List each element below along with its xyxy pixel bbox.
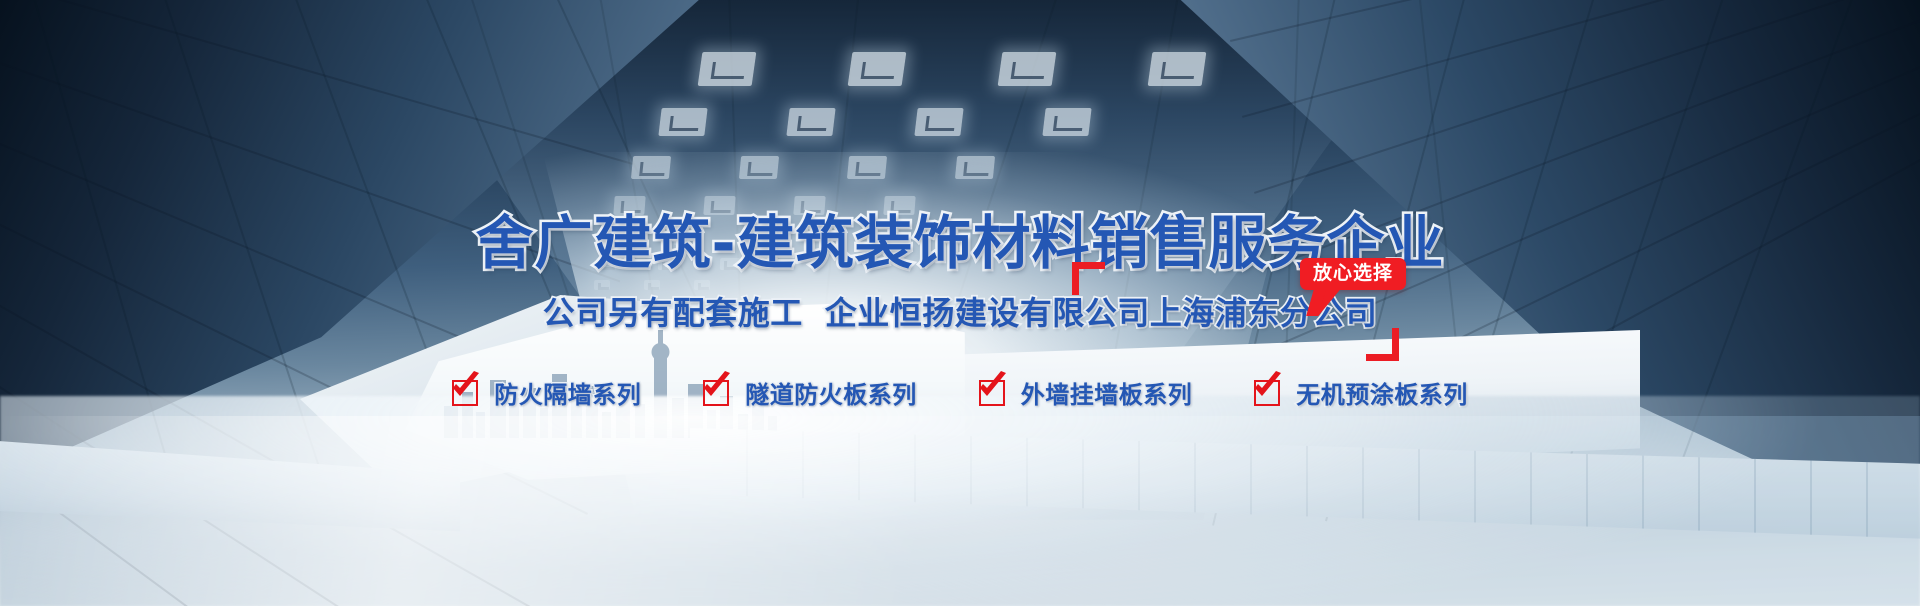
subtitle-company: 企业恒扬建设有限公司上海浦东分公司: [825, 288, 1378, 334]
feature-item[interactable]: 外墙挂墙板系列: [979, 375, 1193, 410]
hero-banner: 舍广建筑-建筑装饰材料销售服务企业 公司另有配套施工企业恒扬建设有限公司上海浦东…: [0, 0, 1920, 606]
banner-subtitle-row: 公司另有配套施工企业恒扬建设有限公司上海浦东分公司: [0, 288, 1920, 334]
feature-item[interactable]: 隧道防火板系列: [703, 375, 917, 410]
feature-label: 外墙挂墙板系列: [1021, 375, 1193, 410]
checkbox-checked-icon: [979, 380, 1005, 406]
checkbox-checked-icon: [452, 380, 478, 406]
feature-item[interactable]: 防火隔墙系列: [452, 375, 641, 410]
feature-label: 隧道防火板系列: [745, 375, 917, 410]
checkbox-checked-icon: [703, 380, 729, 406]
corner-bracket-bottom-right-icon: [1366, 328, 1399, 361]
banner-headline: 舍广建筑-建筑装饰材料销售服务企业: [0, 196, 1920, 280]
feature-label: 无机预涂板系列: [1296, 375, 1468, 410]
trust-badge: 放心选择: [1300, 258, 1406, 290]
feature-list: 防火隔墙系列隧道防火板系列外墙挂墙板系列无机预涂板系列: [0, 375, 1920, 410]
checkbox-checked-icon: [1254, 380, 1280, 406]
feature-item[interactable]: 无机预涂板系列: [1254, 375, 1468, 410]
banner-content: 舍广建筑-建筑装饰材料销售服务企业 公司另有配套施工企业恒扬建设有限公司上海浦东…: [0, 0, 1920, 606]
subtitle-prefix: 公司另有配套施工: [543, 288, 803, 334]
feature-label: 防火隔墙系列: [494, 375, 641, 410]
